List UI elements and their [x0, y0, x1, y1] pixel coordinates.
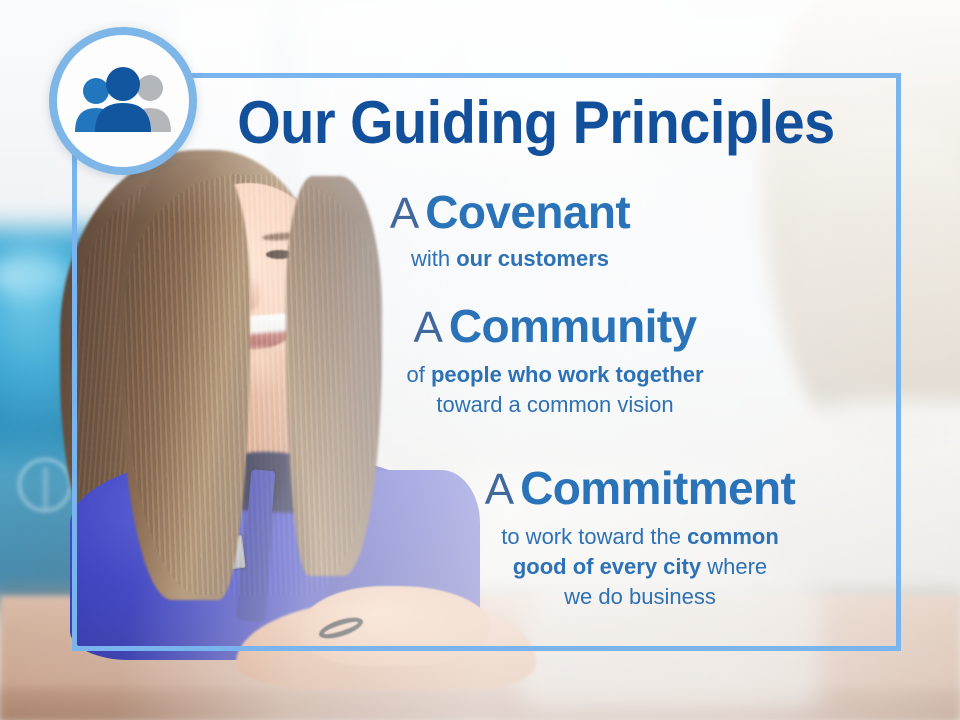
principle-block-commitment: ACommitment to work toward the commongoo… — [400, 462, 880, 612]
principle-heading: ACovenant — [300, 186, 720, 240]
principle-detail-line: with our customers — [300, 244, 720, 274]
principle-detail-line: to work toward the common — [400, 522, 880, 552]
detail-text: to work toward the — [501, 524, 687, 549]
principle-article: A — [390, 189, 419, 238]
detail-emphasis: our customers — [456, 246, 609, 271]
principle-detail: of people who work togethertoward a comm… — [330, 360, 780, 420]
principle-block-community: ACommunity of people who work togetherto… — [330, 300, 780, 420]
principle-detail: with our customers — [300, 244, 720, 274]
principle-heading: ACommitment — [400, 462, 880, 516]
banner-graphic: FLOW FLOW AUTOMOTIVE Our Guiding Pri — [0, 0, 960, 720]
page-title: Our Guiding Principles — [224, 92, 849, 154]
principle-detail-line: good of every city where — [400, 552, 880, 582]
people-group-icon — [71, 66, 175, 136]
principle-block-covenant: ACovenant with our customers — [300, 186, 720, 274]
principle-article: A — [485, 465, 514, 514]
detail-text: toward a common vision — [436, 392, 673, 417]
principle-detail-line: of people who work together — [330, 360, 780, 390]
principle-detail: to work toward the commongood of every c… — [400, 522, 880, 612]
detail-text: with — [411, 246, 456, 271]
principle-detail-line: we do business — [400, 582, 880, 612]
principle-word: Community — [449, 300, 697, 352]
detail-text: where — [701, 554, 767, 579]
principle-word: Commitment — [520, 462, 795, 514]
principle-article: A — [414, 303, 443, 352]
detail-emphasis: people who work together — [431, 362, 704, 387]
badge-circle — [49, 27, 197, 175]
detail-emphasis: good of every city — [513, 554, 701, 579]
detail-emphasis: common — [687, 524, 779, 549]
principle-heading: ACommunity — [330, 300, 780, 354]
detail-text: we do business — [564, 584, 716, 609]
principle-detail-line: toward a common vision — [330, 390, 780, 420]
detail-text: of — [406, 362, 430, 387]
principle-word: Covenant — [425, 186, 630, 238]
